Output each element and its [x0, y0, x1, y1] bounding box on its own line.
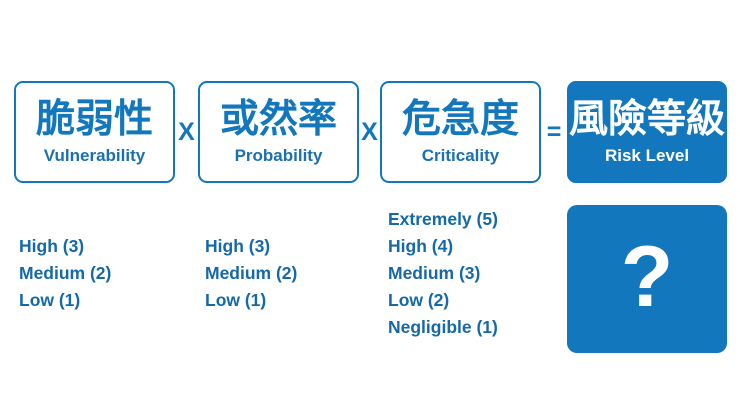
factor-box-probability: 或然率 Probability — [198, 81, 359, 183]
scale-item: Low (1) — [205, 287, 297, 314]
question-mark-icon: ? — [621, 234, 674, 320]
scale-item: High (3) — [19, 233, 111, 260]
factor-title-cjk-criticality: 危急度 — [402, 100, 519, 139]
factor-title-cjk-probability: 或然率 — [220, 100, 337, 139]
factor-box-vulnerability: 脆弱性 Vulnerability — [14, 81, 175, 183]
scale-list-vulnerability: High (3) Medium (2) Low (1) — [19, 233, 111, 314]
multiply-operator-2: X — [359, 81, 380, 183]
factor-label-vulnerability: Vulnerability — [44, 147, 145, 164]
scale-item: Medium (3) — [388, 260, 498, 287]
scale-item: Negligible (1) — [388, 314, 498, 341]
scale-item: Medium (2) — [19, 260, 111, 287]
scale-list-criticality: Extremely (5) High (4) Medium (3) Low (2… — [388, 206, 498, 341]
factor-label-risk-level: Risk Level — [605, 147, 689, 164]
equals-operator: = — [541, 81, 567, 183]
scale-item: Extremely (5) — [388, 206, 498, 233]
factor-box-criticality: 危急度 Criticality — [380, 81, 541, 183]
scale-item: Medium (2) — [205, 260, 297, 287]
risk-formula-diagram: 脆弱性 Vulnerability X 或然率 Probability X 危急… — [0, 0, 740, 416]
factor-title-cjk-vulnerability: 脆弱性 — [36, 100, 153, 139]
factor-box-risk-level: 風險等級 Risk Level — [567, 81, 727, 183]
scale-item: Low (1) — [19, 287, 111, 314]
scale-item: High (4) — [388, 233, 498, 260]
factor-label-criticality: Criticality — [422, 147, 499, 164]
scale-item: Low (2) — [388, 287, 498, 314]
scale-item: High (3) — [205, 233, 297, 260]
scale-list-probability: High (3) Medium (2) Low (1) — [205, 233, 297, 314]
multiply-operator-1: X — [175, 81, 198, 183]
factor-label-probability: Probability — [235, 147, 323, 164]
factor-title-cjk-risk-level: 風險等級 — [569, 100, 725, 139]
risk-level-result-box: ? — [567, 205, 727, 353]
